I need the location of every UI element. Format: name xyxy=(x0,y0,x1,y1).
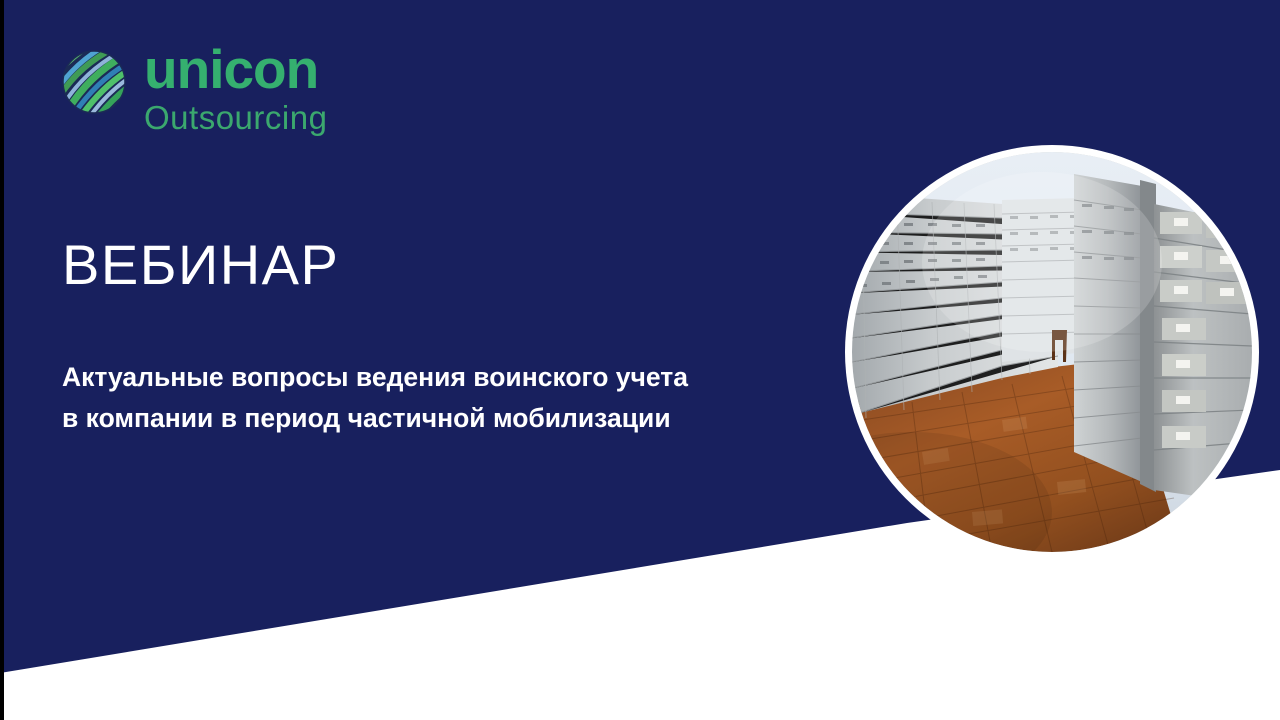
logo-primary-text: unicon xyxy=(144,42,327,97)
logo-secondary-text: Outsourcing xyxy=(144,99,327,137)
logo-wordmark: unicon Outsourcing xyxy=(144,42,327,137)
archive-room-photo xyxy=(852,152,1252,552)
slide-subtitle: Актуальные вопросы ведения воинского уче… xyxy=(62,357,852,439)
slide-subtitle-line-2: в компании в период частичной мобилизаци… xyxy=(62,398,852,439)
webinar-slide: unicon Outsourcing ВЕБИНАР Актуальные во… xyxy=(0,0,1280,720)
left-edge-strip xyxy=(0,0,4,720)
slide-subtitle-line-1: Актуальные вопросы ведения воинского уче… xyxy=(62,357,852,398)
slide-headline: ВЕБИНАР xyxy=(62,236,339,295)
brand-logo: unicon Outsourcing xyxy=(60,42,327,137)
unicon-globe-mark-icon xyxy=(60,48,128,116)
